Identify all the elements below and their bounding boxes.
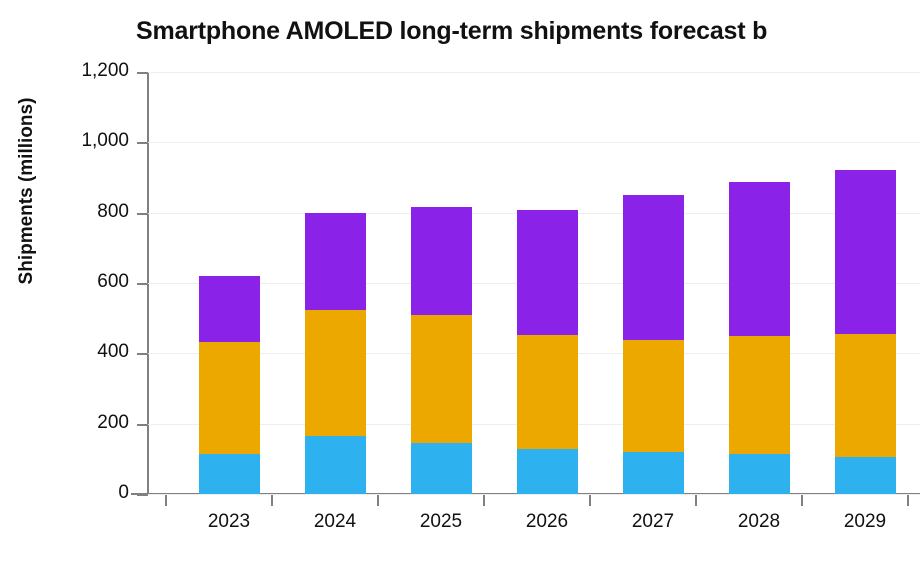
- bar-segment-series-1[interactable]: [411, 443, 472, 494]
- bar-segment-series-3[interactable]: [517, 210, 578, 335]
- bar-segment-series-3[interactable]: [835, 170, 896, 334]
- x-tick-mark: [695, 495, 697, 506]
- x-tick-label: 2025: [391, 511, 491, 533]
- bar-segment-series-2[interactable]: [411, 315, 472, 443]
- y-tick-label: 1,000: [29, 130, 129, 152]
- y-tick-label: 800: [29, 201, 129, 223]
- bar-segment-series-1[interactable]: [305, 436, 366, 494]
- x-tick-mark: [483, 495, 485, 506]
- x-tick-mark: [271, 495, 273, 506]
- bar-stack[interactable]: [623, 72, 684, 494]
- bar-segment-series-3[interactable]: [729, 182, 790, 336]
- x-tick-mark: [165, 495, 167, 506]
- bar-segment-series-2[interactable]: [623, 340, 684, 452]
- y-tick-label: 1,200: [29, 60, 129, 82]
- y-tick-label: 200: [29, 412, 129, 434]
- bar-segment-series-1[interactable]: [729, 454, 790, 494]
- x-tick-label: 2027: [603, 511, 703, 533]
- x-tick-label: 2024: [285, 511, 385, 533]
- bar-segment-series-2[interactable]: [517, 335, 578, 449]
- bar-segment-series-2[interactable]: [305, 310, 366, 436]
- y-tick-label: 0: [29, 482, 129, 504]
- bar-segment-series-1[interactable]: [623, 452, 684, 494]
- bar-stack[interactable]: [305, 72, 366, 494]
- bar-stack[interactable]: [835, 72, 896, 494]
- chart-container: Smartphone AMOLED long-term shipments fo…: [0, 0, 920, 575]
- x-tick-mark: [907, 495, 909, 506]
- x-tick-label: 2026: [497, 511, 597, 533]
- y-tick-label: 400: [29, 341, 129, 363]
- x-tick-label: 2028: [709, 511, 809, 533]
- x-tick-label: 2029: [815, 511, 915, 533]
- bar-stack[interactable]: [517, 72, 578, 494]
- bar-segment-series-1[interactable]: [517, 449, 578, 494]
- bar-segment-series-2[interactable]: [729, 336, 790, 454]
- bar-segment-series-3[interactable]: [199, 276, 260, 342]
- x-tick-mark: [801, 495, 803, 506]
- bar-segment-series-1[interactable]: [835, 457, 896, 494]
- bar-stack[interactable]: [411, 72, 472, 494]
- y-tick-label: 600: [29, 271, 129, 293]
- bar-segment-series-2[interactable]: [835, 334, 896, 457]
- chart-title: Smartphone AMOLED long-term shipments fo…: [136, 18, 767, 46]
- x-tick-mark: [589, 495, 591, 506]
- x-tick-label: 2023: [179, 511, 279, 533]
- bar-segment-series-1[interactable]: [199, 454, 260, 494]
- plot-area: [148, 72, 920, 494]
- bar-segment-series-3[interactable]: [411, 207, 472, 315]
- bar-segment-series-2[interactable]: [199, 342, 260, 453]
- bar-stack[interactable]: [199, 72, 260, 494]
- bar-segment-series-3[interactable]: [305, 213, 366, 310]
- x-tick-mark: [377, 495, 379, 506]
- bar-stack[interactable]: [729, 72, 790, 494]
- gridline: [148, 494, 920, 495]
- bar-segment-series-3[interactable]: [623, 195, 684, 340]
